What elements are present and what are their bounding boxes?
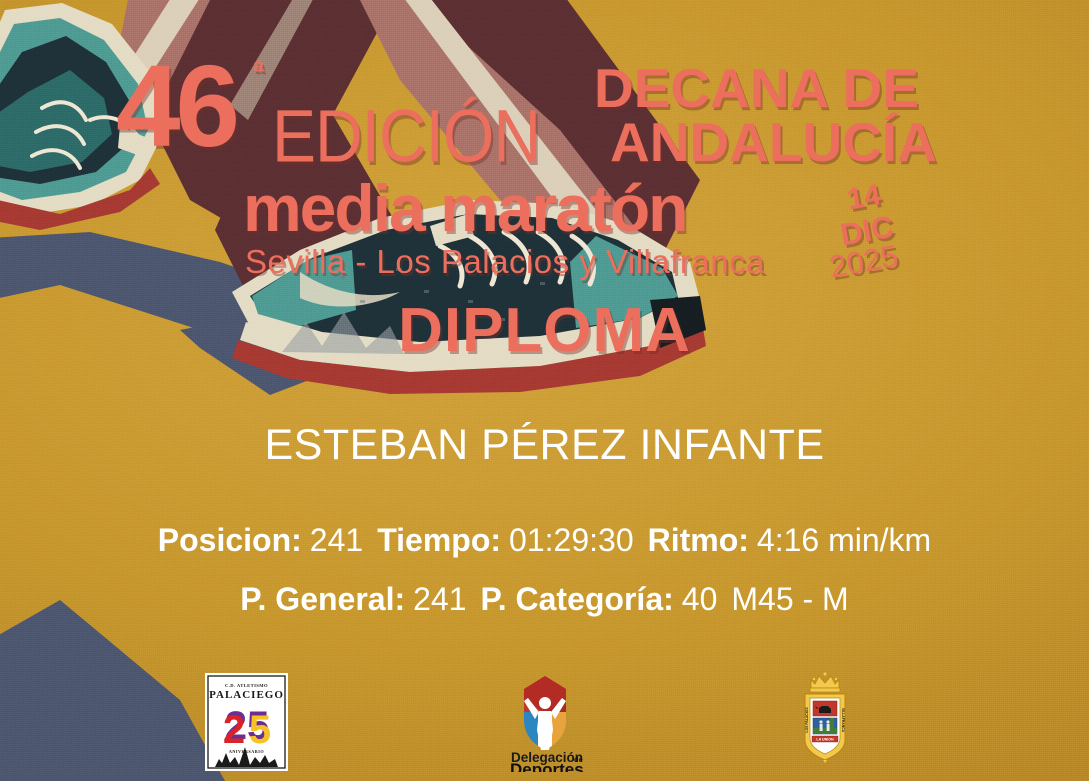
decana-line-1: DECANA DE bbox=[594, 62, 919, 116]
logo-deportes-line2: Deportes bbox=[510, 760, 584, 772]
shield-banner-text: LA UNION bbox=[816, 738, 834, 742]
edition-ordinal: ª bbox=[253, 58, 264, 88]
edition-number: 46 bbox=[116, 48, 235, 164]
logo-anniversary-digit-5: 5 bbox=[249, 708, 271, 752]
result-key: Tiempo: bbox=[377, 522, 501, 558]
results-line-2: P. General:241P. Categoría:40M45 - M bbox=[0, 583, 1089, 615]
race-location: Sevilla - Los Palacios y Villafranca bbox=[245, 245, 765, 278]
diploma-certificate: 46 ª EDICIÓN DECANA DE ANDALUCÍA media m… bbox=[0, 0, 1089, 781]
shield-right-text: VILLAFRANCA bbox=[841, 708, 845, 733]
edition-word: EDICIÓN bbox=[272, 99, 540, 173]
result-value: 40 bbox=[682, 581, 718, 617]
logo-palaciego: C.D. ATLETISMO PALACIEGO 25 2 5 ANIVERSA… bbox=[205, 673, 288, 771]
race-type: media maratón bbox=[243, 175, 686, 241]
runner-name: ESTEBAN PÉREZ INFANTE bbox=[0, 424, 1089, 467]
crown-icon bbox=[810, 672, 840, 692]
page-title: DIPLOMA bbox=[0, 300, 1089, 362]
result-key: P. General: bbox=[240, 581, 405, 617]
result-key: Posicion: bbox=[158, 522, 302, 558]
result-key: Ritmo: bbox=[648, 522, 749, 558]
result-key: P. Categoría: bbox=[481, 581, 674, 617]
logo-palaciego-name: PALACIEGO bbox=[209, 689, 284, 701]
logo-deportes: Delegación de Deportes Ayuntamiento de L… bbox=[490, 672, 600, 772]
logo-anniversary-digit-2: 2 bbox=[223, 708, 245, 752]
result-value: 241 bbox=[413, 581, 466, 617]
result-category: M45 - M bbox=[731, 581, 848, 617]
result-value: 4:16 min/km bbox=[757, 522, 931, 558]
result-value: 241 bbox=[310, 522, 363, 558]
decana-line-2: ANDALUCÍA bbox=[610, 116, 937, 170]
results-line-1: Posicion:241Tiempo:01:29:30Ritmo:4:16 mi… bbox=[0, 524, 1089, 556]
logo-coat-of-arms: LA UNION LOS PALACIOS VILLAFRANCA bbox=[797, 668, 853, 763]
shield-left-text: LOS PALACIOS bbox=[805, 707, 809, 733]
result-value: 01:29:30 bbox=[509, 522, 634, 558]
logo-palaciego-prefix: C.D. ATLETISMO bbox=[225, 683, 268, 688]
